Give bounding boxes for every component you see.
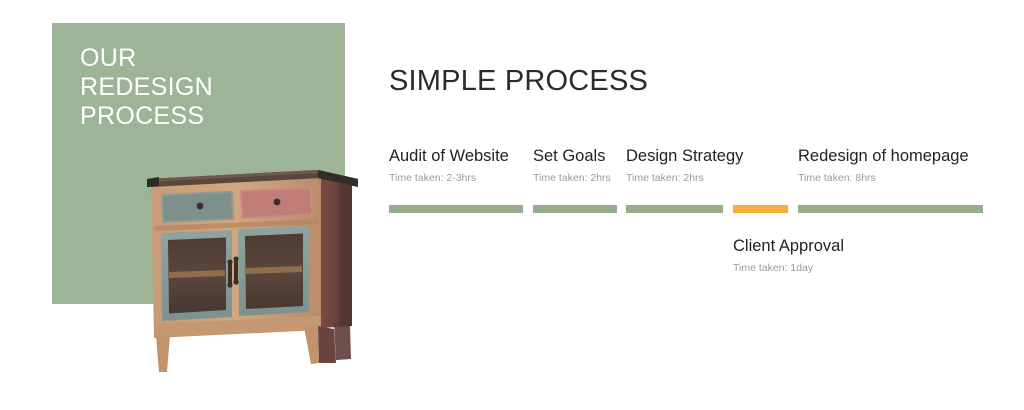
- process-section: SIMPLE PROCESS Audit of Website Time tak…: [389, 0, 1024, 410]
- step-bar-set-goals: [533, 205, 617, 213]
- step-bar-redesign-homepage: [798, 205, 983, 213]
- process-step-design-strategy: Design Strategy Time taken: 2hrs: [626, 146, 743, 185]
- step-bar-design-strategy: [626, 205, 723, 213]
- step-bar-audit: [389, 205, 523, 213]
- substep-label: Client Approval: [733, 236, 844, 256]
- hero-title: OUR REDESIGN PROCESS: [80, 44, 330, 131]
- cabinet-image: [128, 160, 380, 382]
- step-time: Time taken: 8hrs: [798, 172, 969, 185]
- process-step-redesign-homepage: Redesign of homepage Time taken: 8hrs: [798, 146, 969, 185]
- substep-time: Time taken: 1day: [733, 262, 844, 275]
- slide-root: OUR REDESIGN PROCESS: [0, 0, 1024, 410]
- hero-section: OUR REDESIGN PROCESS: [0, 0, 380, 410]
- page-title: SIMPLE PROCESS: [389, 64, 648, 98]
- step-time: Time taken: 2hrs: [533, 172, 611, 185]
- process-step-audit: Audit of Website Time taken: 2-3hrs: [389, 146, 509, 185]
- process-step-set-goals: Set Goals Time taken: 2hrs: [533, 146, 611, 185]
- step-time: Time taken: 2hrs: [626, 172, 743, 185]
- step-label: Redesign of homepage: [798, 146, 969, 166]
- step-label: Design Strategy: [626, 146, 743, 166]
- step-label: Set Goals: [533, 146, 611, 166]
- process-substep-client-approval: Client Approval Time taken: 1day: [733, 236, 844, 275]
- step-label: Audit of Website: [389, 146, 509, 166]
- step-bar-client-approval: [733, 205, 788, 213]
- process-steps: Audit of Website Time taken: 2-3hrs Set …: [389, 146, 1024, 216]
- step-time: Time taken: 2-3hrs: [389, 172, 509, 185]
